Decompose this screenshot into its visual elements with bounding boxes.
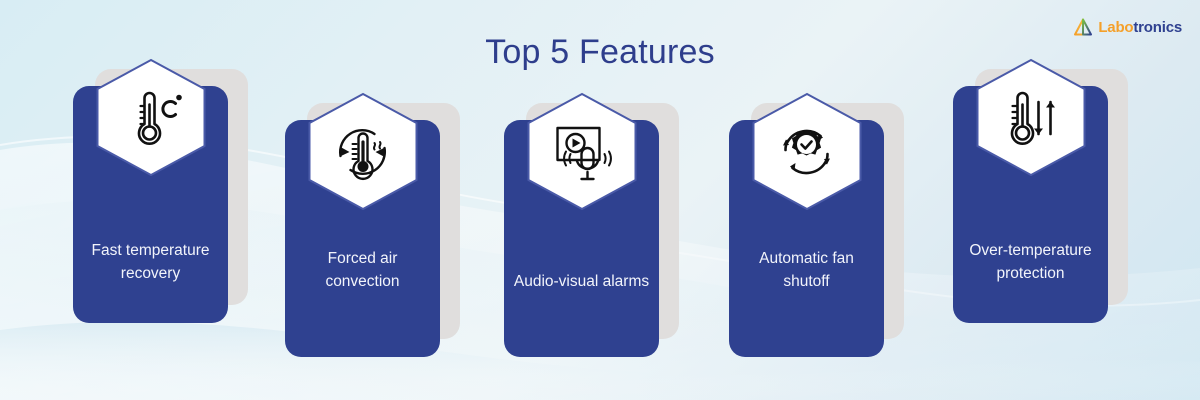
infographic-canvas: Labotronics Top 5 Features — [0, 0, 1200, 400]
hexagon-badge — [522, 92, 641, 211]
hexagon-badge — [747, 92, 866, 211]
card-label: Audio-visual alarms — [510, 271, 653, 293]
thermometer-celsius-icon — [115, 82, 187, 154]
card-label: Forced air convection — [291, 248, 434, 293]
thermometer-circular-arrows-icon — [327, 116, 399, 188]
thermometer-up-down-arrows-icon — [995, 82, 1067, 154]
card-body[interactable]: Audio-visual alarms — [504, 120, 659, 357]
feature-cards-row: Fast temperature recovery — [0, 0, 1200, 400]
hexagon-badge — [91, 58, 210, 177]
screen-microphone-icon — [546, 116, 618, 188]
card-body[interactable]: Fast temperature recovery — [73, 86, 228, 323]
card-label: Automatic fan shutoff — [735, 248, 878, 293]
hexagon-badge — [971, 58, 1090, 177]
card-label: Fast temperature recovery — [79, 240, 222, 285]
hexagon-badge — [303, 92, 422, 211]
card-body[interactable]: Automatic fan shutoff — [729, 120, 884, 357]
gear-check-arrows-icon — [771, 116, 843, 188]
card-label: Over-temperature protection — [959, 240, 1102, 285]
card-body[interactable]: Over-temperature protection — [953, 86, 1108, 323]
card-body[interactable]: Forced air convection — [285, 120, 440, 357]
